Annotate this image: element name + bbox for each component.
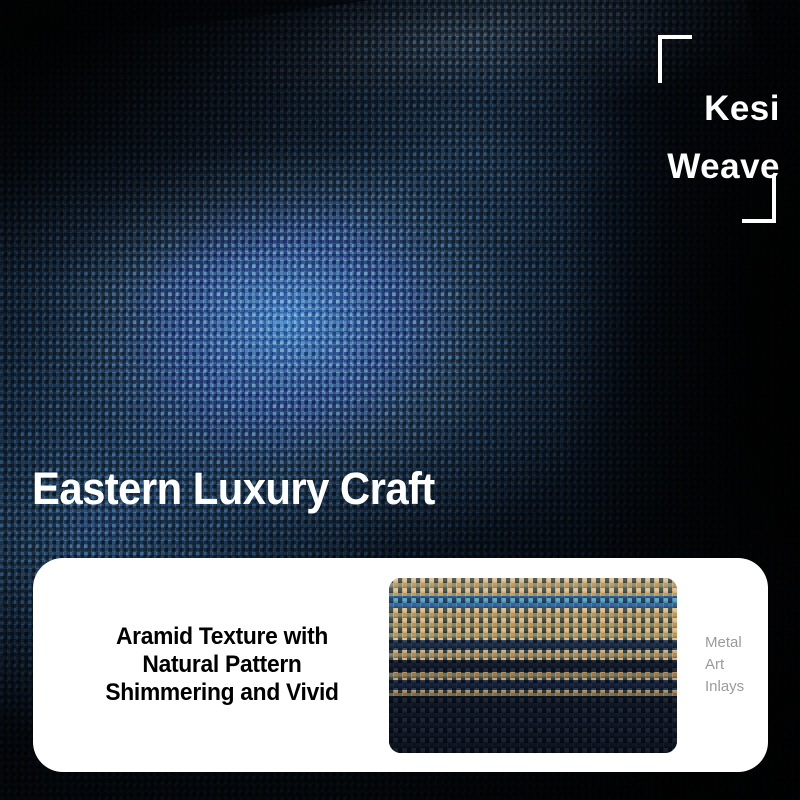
fabric-swatch-image [389, 578, 677, 753]
card-copy-line-1: Aramid Texture with [65, 623, 379, 651]
badge-label-group: Kesi Weave [650, 80, 780, 196]
swatch-caption: Metal Art Inlays [677, 632, 754, 698]
bracket-top-left-icon [658, 35, 692, 83]
swatch-shading [389, 578, 677, 753]
kesi-weave-badge: Kesi Weave [650, 30, 780, 225]
card-copy-line-3: Shimmering and Vivid [65, 679, 379, 707]
card-copy-line-2: Natural Pattern [65, 651, 379, 679]
card-copy-block: Aramid Texture with Natural Pattern Shim… [65, 623, 379, 707]
badge-line-weave: Weave [650, 138, 780, 196]
swatch-caption-line-2: Art [705, 654, 754, 676]
poster-canvas: Kesi Weave Eastern Luxury Craft Aramid T… [0, 0, 800, 800]
info-card: Aramid Texture with Natural Pattern Shim… [33, 558, 768, 772]
page-title: Eastern Luxury Craft [32, 466, 435, 512]
swatch-caption-line-3: Inlays [705, 676, 754, 698]
badge-line-kesi: Kesi [650, 80, 780, 138]
swatch-caption-line-1: Metal [705, 632, 754, 654]
